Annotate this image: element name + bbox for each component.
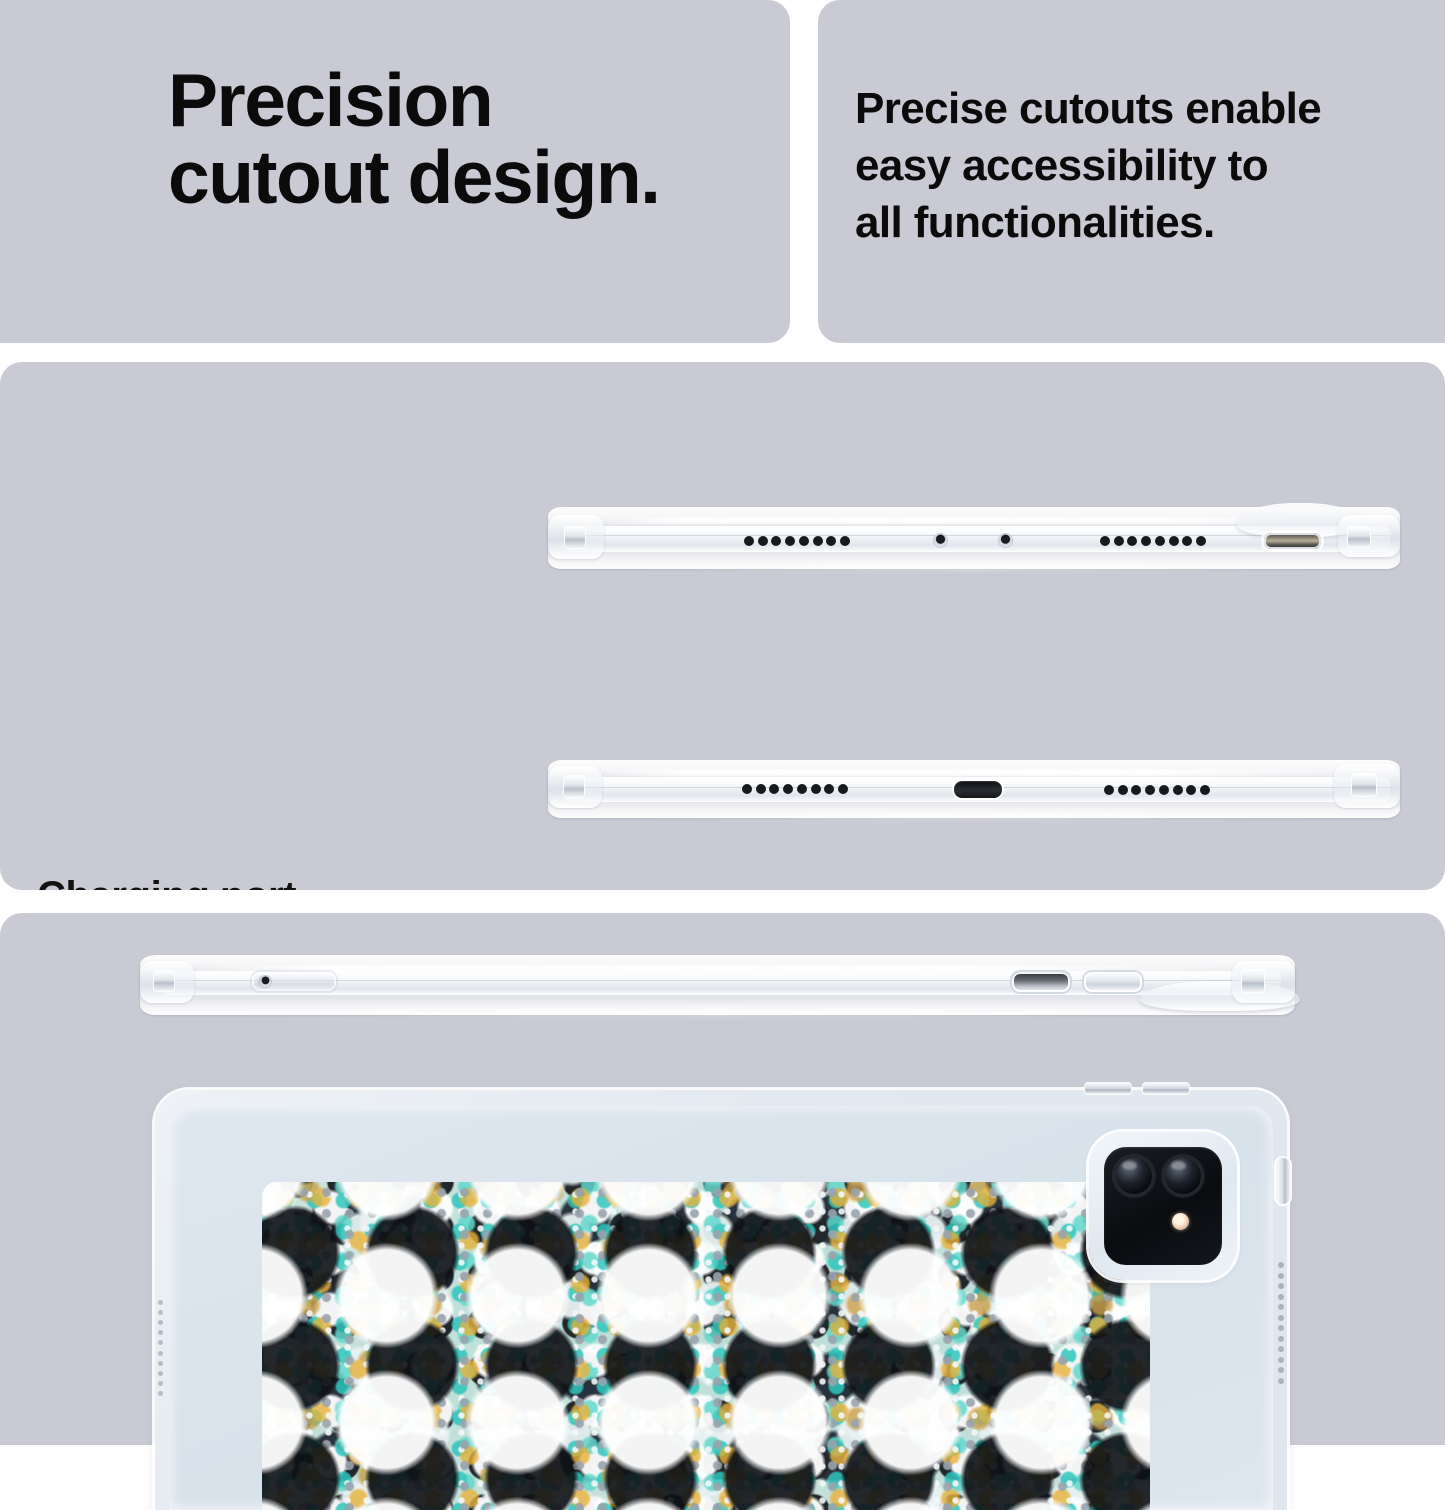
speaker-grille-right xyxy=(1104,784,1210,795)
power-button-rib xyxy=(1352,774,1376,796)
surface-reflection xyxy=(582,810,1366,819)
tablet-top-edge-view xyxy=(548,507,1400,569)
usb-c-port xyxy=(1264,533,1321,549)
page-title: Precision cutout design. xyxy=(168,62,768,217)
headline-line-1: Precision xyxy=(168,62,768,139)
camera-lens-plate xyxy=(1104,1147,1222,1265)
speaker-grille-left xyxy=(744,535,850,546)
smart-connector-rib xyxy=(154,971,174,991)
glitter-layer-large-silver xyxy=(262,1182,1150,1510)
product-feature-sheet: Precision cutout design. Precise cutouts… xyxy=(0,0,1445,1445)
usb-c-port xyxy=(954,781,1002,798)
smart-connector-pin-1 xyxy=(1085,1083,1131,1094)
charging-port-label: Charging port xyxy=(37,874,296,890)
subcopy-line-2: easy accessibility to xyxy=(855,137,1435,194)
power-button-rib xyxy=(1348,527,1370,547)
subcopy-line-3: all functionalities. xyxy=(855,194,1435,251)
speaker-perforations-left xyxy=(158,1300,163,1396)
power-button-rib xyxy=(1242,970,1264,992)
smart-connector-rib xyxy=(565,527,585,548)
side-button-cutout xyxy=(1276,1158,1290,1204)
tablet-bottom-edge-view xyxy=(548,760,1400,818)
surface-reflection xyxy=(186,1007,1249,1017)
subcopy-line-1: Precise cutouts enable xyxy=(855,80,1435,137)
headline-line-2: cutout design. xyxy=(168,139,768,216)
subcopy-text: Precise cutouts enable easy accessibilit… xyxy=(855,80,1435,252)
panel-subcopy: Precise cutouts enable easy accessibilit… xyxy=(818,0,1445,343)
tablet-side-edge-view xyxy=(140,955,1295,1015)
flash-lidar-icon xyxy=(1172,1213,1189,1230)
speaker-grille-right xyxy=(1100,535,1206,546)
microphone-hole-dot xyxy=(260,976,271,987)
glitter-quicksand-field xyxy=(262,1182,1150,1510)
microphone-hole-1 xyxy=(934,534,947,547)
highlight-glint xyxy=(574,769,1375,776)
volume-button-cutout-2 xyxy=(1084,972,1142,992)
speaker-grille-left xyxy=(742,783,848,794)
smart-connector-rib xyxy=(564,776,584,797)
camera-module xyxy=(1089,1132,1237,1280)
highlight-glint xyxy=(175,965,1261,972)
microphone-hole-2 xyxy=(999,534,1012,547)
ultra-wide-lens-icon xyxy=(1162,1155,1204,1197)
panel-charging-port: Charging port xyxy=(0,362,1445,890)
speaker-perforations-right xyxy=(1278,1262,1284,1384)
wide-lens-icon xyxy=(1113,1155,1155,1197)
surface-reflection xyxy=(582,561,1366,571)
panel-headline: Precision cutout design. xyxy=(0,0,790,343)
volume-button-cutout-1 xyxy=(1012,972,1070,992)
smart-connector-pin-2 xyxy=(1143,1083,1189,1094)
